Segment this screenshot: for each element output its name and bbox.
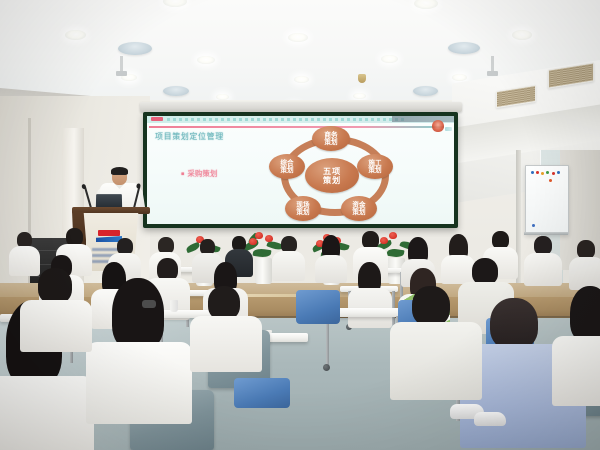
white-planter bbox=[255, 258, 272, 284]
downlight-icon bbox=[353, 93, 366, 99]
attendee-torso bbox=[524, 253, 562, 286]
diagram-node-site: 现场 策划 bbox=[285, 196, 321, 221]
projection-screen-housing bbox=[140, 102, 462, 112]
presenter-laptop-screen[interactable] bbox=[96, 194, 122, 208]
attendee-torso bbox=[190, 316, 262, 372]
diagram-node-center: 五项 策划 bbox=[305, 158, 359, 193]
red-anthurium-bloom bbox=[265, 235, 273, 242]
desk-caster bbox=[323, 364, 330, 371]
diagram-center-label: 五项 策划 bbox=[323, 167, 341, 184]
red-anthurium-bloom bbox=[249, 238, 257, 245]
diagram-node-label: 现场 策划 bbox=[296, 202, 309, 216]
whiteboard-magnet bbox=[552, 172, 555, 175]
paper-cup bbox=[170, 300, 178, 312]
attendee-torso bbox=[9, 246, 40, 276]
attendee-torso bbox=[552, 336, 600, 406]
whiteboard-magnet bbox=[546, 171, 549, 174]
attendee-head bbox=[472, 258, 498, 285]
downlight-icon bbox=[512, 30, 532, 40]
red-anthurium-bloom bbox=[380, 237, 388, 244]
whiteboard-magnet bbox=[532, 224, 535, 227]
attendee-shoe bbox=[474, 412, 506, 426]
attendee-torso bbox=[315, 255, 347, 283]
projection-screen: 项目策划定位管理 采购策划 商务 策划 施工 策划 资金 策划 现场 策划 综合… bbox=[143, 112, 458, 228]
attendee-torso bbox=[20, 300, 92, 352]
chair[interactable] bbox=[234, 378, 290, 408]
attendee-head bbox=[490, 298, 538, 350]
ceiling-speaker-icon bbox=[448, 42, 480, 54]
presentation-slide: 项目策划定位管理 采购策划 商务 策划 施工 策划 资金 策划 现场 策划 综合… bbox=[147, 116, 454, 224]
downlight-icon bbox=[197, 56, 215, 64]
red-anthurium-bloom bbox=[255, 232, 263, 239]
attendee-torso bbox=[441, 255, 475, 284]
slide-dotted-line bbox=[167, 118, 407, 121]
downlight-icon bbox=[294, 76, 309, 83]
attendee-hair bbox=[570, 286, 600, 342]
hair-clip-icon bbox=[142, 300, 156, 308]
downlight-icon bbox=[288, 33, 308, 42]
diagram-node-label: 资金 策划 bbox=[352, 202, 365, 216]
diagram-node-comprehensive: 综合 策划 bbox=[269, 154, 305, 179]
downlight-icon bbox=[65, 30, 86, 40]
red-anthurium-bloom bbox=[389, 232, 397, 239]
whiteboard[interactable] bbox=[525, 165, 569, 235]
slide-accent-tag bbox=[151, 117, 163, 121]
whiteboard-magnet bbox=[536, 171, 539, 174]
sprinkler-icon bbox=[358, 74, 366, 83]
diagram-node-construction: 施工 策划 bbox=[357, 154, 393, 179]
projector-mount bbox=[120, 56, 123, 72]
attendee-head bbox=[412, 286, 450, 326]
whiteboard-magnet bbox=[549, 179, 552, 182]
ceiling-speaker-icon bbox=[413, 86, 438, 96]
diagram-node-label: 施工 策划 bbox=[368, 160, 381, 174]
diagram-node-business: 商务 策划 bbox=[312, 126, 350, 151]
conference-room-photo: 项目策划定位管理 采购策划 商务 策划 施工 策划 资金 策划 现场 策划 综合… bbox=[0, 0, 600, 450]
whiteboard-magnet bbox=[531, 171, 534, 174]
attendee-torso bbox=[390, 322, 482, 400]
whiteboard-marker-tray bbox=[524, 232, 568, 235]
slide-header-block bbox=[392, 116, 454, 122]
attendee-head bbox=[208, 286, 240, 320]
chair[interactable] bbox=[296, 290, 340, 324]
glasses-icon bbox=[113, 174, 126, 178]
pentagon-ring-diagram: 商务 策划 施工 策划 资金 策划 现场 策划 综合 策划 五项 策划 bbox=[265, 128, 405, 224]
slide-title: 项目策划定位管理 bbox=[155, 131, 224, 142]
downlight-icon bbox=[381, 55, 398, 63]
attendee-torso bbox=[569, 257, 600, 290]
diagram-node-label: 综合 策划 bbox=[280, 160, 293, 174]
company-logo bbox=[432, 120, 444, 132]
whiteboard-magnet bbox=[557, 171, 560, 174]
downlight-icon bbox=[452, 74, 467, 81]
ceiling-speaker-icon bbox=[163, 86, 189, 96]
podium-logo-red-mark bbox=[98, 230, 120, 236]
slide-bullet-item: 采购策划 bbox=[181, 168, 217, 179]
whiteboard-magnet bbox=[541, 172, 544, 175]
attendee-head bbox=[38, 268, 72, 304]
ceiling-speaker-icon bbox=[118, 42, 152, 55]
attendee-torso bbox=[272, 251, 305, 281]
attendee-torso bbox=[0, 376, 94, 450]
diagram-node-label: 商务 策划 bbox=[324, 132, 337, 146]
attendee-torso bbox=[86, 342, 192, 424]
attendee-hair bbox=[112, 278, 164, 350]
diagram-node-funding: 资金 策划 bbox=[341, 196, 377, 221]
projector-mount bbox=[491, 56, 494, 72]
